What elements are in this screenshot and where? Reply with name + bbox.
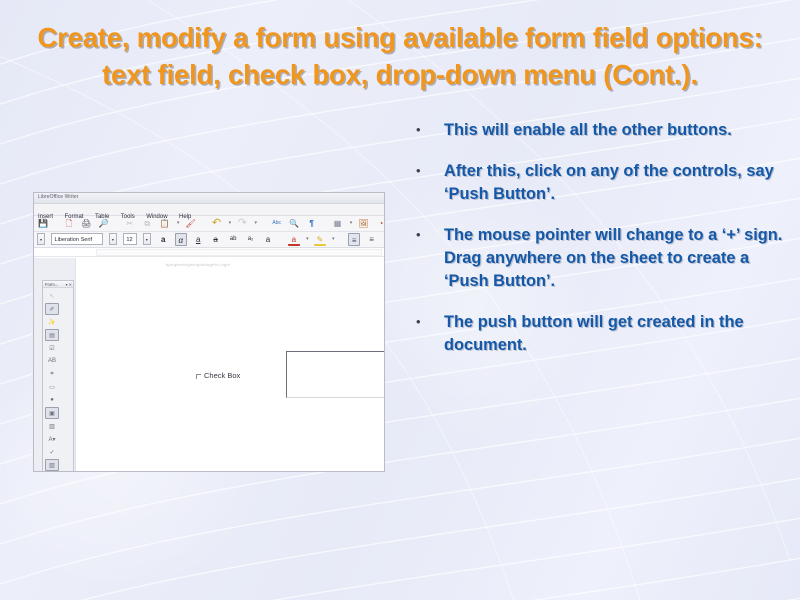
document-push-button-control[interactable] [286, 351, 385, 398]
option-button-icon[interactable]: ▣ [45, 407, 59, 419]
font-name-input[interactable]: Liberation Serif [51, 233, 103, 245]
print-icon[interactable]: 🖨 [80, 217, 92, 230]
bullet-item: • The mouse pointer will change to a ‘+’… [406, 224, 794, 293]
app-workspace: Form... ▾ ✕ ↖ ✐ ✨ ▤ ☑ AB ⌗ ▭ ● ▣ [34, 258, 384, 471]
horizontal-ruler[interactable] [34, 248, 384, 257]
redo-dropdown-icon[interactable]: ▾ [254, 217, 258, 230]
redo-icon[interactable]: ↷ [236, 217, 248, 230]
cut-icon[interactable]: ✂ [124, 217, 136, 230]
undo-icon[interactable]: ↶ [210, 217, 222, 230]
font-size-input[interactable]: 12 [123, 233, 137, 245]
print-preview-icon[interactable]: 🔎 [98, 217, 110, 230]
app-window-title: LibreOffice Writer [38, 194, 79, 200]
bullet-item: • This will enable all the other buttons… [406, 119, 794, 142]
bullet-text: This will enable all the other buttons. [444, 119, 794, 142]
spelling-icon[interactable]: Abc [271, 217, 283, 230]
bullet-text: The mouse pointer will change to a ‘+’ s… [444, 224, 794, 293]
save-icon[interactable]: 💾 [37, 217, 49, 230]
standard-toolbar: 💾 🗋 🖨 🔎 ✂ ⧉ 📋 ▾ 🖌 ↶ ▾ ↷ ▾ Abc 🔍 ¶ ▦ ▾ 🖼 … [34, 216, 384, 232]
label-field-icon[interactable]: AB [45, 355, 59, 367]
app-menu-bar: Insert Format Table Tools Window Help [34, 204, 384, 216]
insert-table-icon[interactable]: ▦ [332, 217, 344, 230]
strikethrough-icon[interactable]: a [210, 233, 222, 246]
bullet-text: After this, click on any of the controls… [444, 160, 794, 206]
combo-box-icon[interactable]: A▾ [45, 433, 59, 445]
slide-title: Create, modify a form using available fo… [8, 20, 792, 93]
form-toolbar-grid: ↖ ✐ ✨ ▤ ☑ AB ⌗ ▭ ● ▣ ▥ A▾ ✓ ▧ ▨ [43, 288, 73, 472]
paragraph-style-dropdown-icon[interactable]: ▾ [37, 233, 45, 245]
check-box-label: Check Box [204, 371, 240, 380]
document-placeholder-text: fghrghmhrfghcfrghcfrhgfrfrc,frghr [166, 262, 230, 267]
underline-icon[interactable]: a [192, 233, 204, 246]
form-toolbar-header[interactable]: Form... ▾ ✕ [43, 281, 73, 288]
list-box-icon[interactable]: ▥ [45, 420, 59, 432]
text-box-field-icon[interactable]: ⌗ [45, 368, 59, 380]
bold-icon[interactable]: a [157, 233, 169, 246]
design-mode-icon[interactable]: ✐ [45, 303, 59, 315]
bullet-text: The push button will get created in the … [444, 311, 794, 357]
clear-formatting-icon[interactable]: a [262, 233, 274, 246]
formatting-marks-icon[interactable]: ¶ [306, 217, 318, 230]
align-right-icon[interactable]: ≡ [383, 233, 384, 246]
formatting-toolbar: ▾ Liberation Serif ▾ 12 ▾ a α a a ab a₂ … [34, 232, 384, 248]
align-center-icon[interactable]: ≡ [366, 233, 378, 246]
toolbar-separator [340, 233, 344, 246]
toolbar-separator [323, 217, 327, 230]
bullet-marker-icon: • [406, 119, 444, 141]
bullet-item: • After this, click on any of the contro… [406, 160, 794, 206]
undo-dropdown-icon[interactable]: ▾ [228, 217, 232, 230]
ruler-scale [96, 249, 382, 256]
check-box-icon[interactable]: ☑ [45, 342, 59, 354]
font-name-dropdown-icon[interactable]: ▾ [109, 233, 117, 245]
font-color-dropdown-icon[interactable]: ▾ [305, 233, 309, 246]
bullet-marker-icon: • [406, 311, 444, 333]
toolbar-separator [54, 217, 58, 230]
paste-dropdown-icon[interactable]: ▾ [176, 217, 180, 230]
font-color-icon[interactable]: a [288, 233, 300, 246]
app-left-gutter: Form... ▾ ✕ ↖ ✐ ✨ ▤ ☑ AB ⌗ ▭ ● ▣ [34, 258, 76, 471]
insert-image-icon[interactable]: 🖼 [357, 217, 369, 230]
bullet-marker-icon: • [406, 224, 444, 246]
check-box-icon[interactable] [196, 374, 201, 379]
toolbar-separator [279, 233, 283, 246]
align-left-icon[interactable]: ≡ [348, 233, 360, 246]
form-toolbar-title: Form... [45, 281, 65, 288]
slide-canvas: Create, modify a form using available fo… [0, 0, 800, 600]
insert-chart-icon[interactable]: ◔ [375, 217, 384, 230]
form-navigator-icon[interactable]: ✓ [45, 446, 59, 458]
subscript-icon[interactable]: a₂ [245, 233, 257, 246]
formatted-field-icon[interactable]: ▭ [45, 381, 59, 393]
export-pdf-icon[interactable]: 🗋 [63, 217, 75, 230]
document-check-box-control[interactable]: Check Box [196, 371, 240, 380]
embedded-app-screenshot: LibreOffice Writer Insert Format Table T… [33, 192, 385, 472]
font-size-dropdown-icon[interactable]: ▾ [143, 233, 151, 245]
control-wizards-icon[interactable]: ✨ [45, 316, 59, 328]
table-dropdown-icon[interactable]: ▾ [349, 217, 353, 230]
close-icon[interactable]: ✕ [68, 281, 72, 288]
form-properties-icon[interactable]: ▤ [45, 329, 59, 341]
find-replace-icon[interactable]: 🔍 [288, 217, 300, 230]
bullet-list: • This will enable all the other buttons… [406, 119, 794, 357]
app-title-bar: LibreOffice Writer [34, 193, 384, 204]
bullet-item: • The push button will get created in th… [406, 311, 794, 357]
toolbar-separator [115, 217, 119, 230]
select-tool-icon[interactable]: ↖ [45, 290, 59, 302]
highlight-color-icon[interactable]: ✎ [314, 233, 326, 246]
more-controls-icon[interactable]: ▧ [45, 459, 59, 471]
push-button-icon[interactable]: ● [45, 394, 59, 406]
bullet-marker-icon: • [406, 160, 444, 182]
superscript-icon[interactable]: ab [227, 233, 239, 246]
highlight-color-dropdown-icon[interactable]: ▾ [331, 233, 335, 246]
document-page[interactable]: fghrghmhrfghcfrghcfrhgfrfrc,frghr Check … [76, 258, 384, 471]
italic-icon[interactable]: α [175, 233, 187, 246]
form-controls-toolbar[interactable]: Form... ▾ ✕ ↖ ✐ ✨ ▤ ☑ AB ⌗ ▭ ● ▣ [42, 280, 74, 472]
toolbar-separator [262, 217, 266, 230]
toolbar-separator [202, 217, 206, 230]
clone-formatting-icon[interactable]: 🖌 [185, 217, 197, 230]
copy-icon[interactable]: ⧉ [141, 217, 153, 230]
paste-icon[interactable]: 📋 [159, 217, 171, 230]
